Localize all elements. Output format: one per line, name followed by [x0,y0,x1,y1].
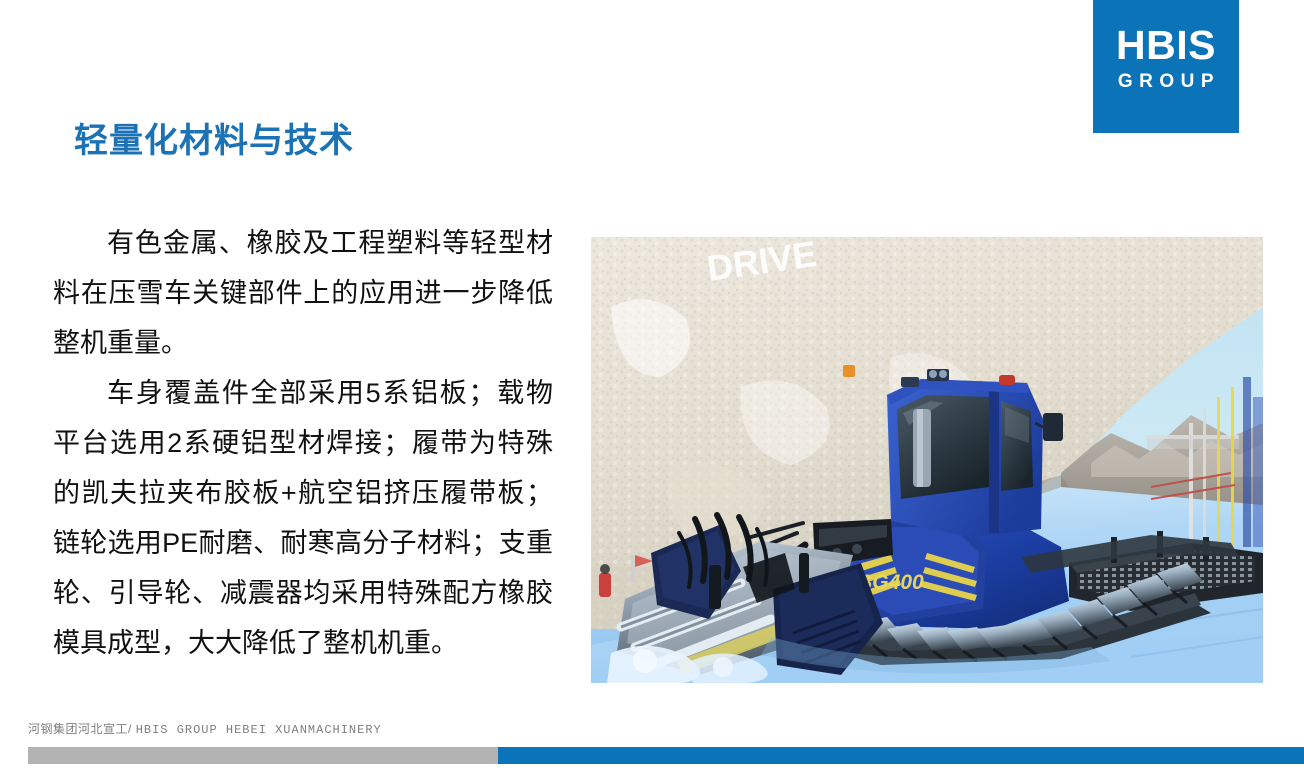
footer-text: 河钢集团河北宣工/ HBIS GROUP HEBEI XUANMACHINERY [28,720,382,737]
logo-sub-text: GROUP [1093,70,1239,94]
footer-text-cn: 河钢集团河北宣工/ [28,722,132,736]
paragraph-2: 车身覆盖件全部采用5系铝板；载物平台选用2系硬铝型材焊接；履带为特殊的凯夫拉夹布… [53,368,553,668]
photo-illustration: DRIVE [591,237,1263,683]
body-copy: 有色金属、橡胶及工程塑料等轻型材料在压雪车关键部件上的应用进一步降低整机重量。 … [53,218,553,668]
bottom-bar-blue-segment [498,747,1304,764]
footer-text-en: HBIS GROUP HEBEI XUANMACHINERY [136,723,382,737]
snow-groomer-photo: DRIVE [591,237,1263,683]
bottom-bar-gray-segment [28,747,498,764]
page-title: 轻量化材料与技术 [74,113,354,162]
paragraph-1: 有色金属、橡胶及工程塑料等轻型材料在压雪车关键部件上的应用进一步降低整机重量。 [53,218,553,368]
logo-main-text: HBIS [1093,22,1239,68]
hbis-group-logo: HBIS GROUP [1093,0,1239,133]
bottom-accent-bar [28,747,1304,764]
